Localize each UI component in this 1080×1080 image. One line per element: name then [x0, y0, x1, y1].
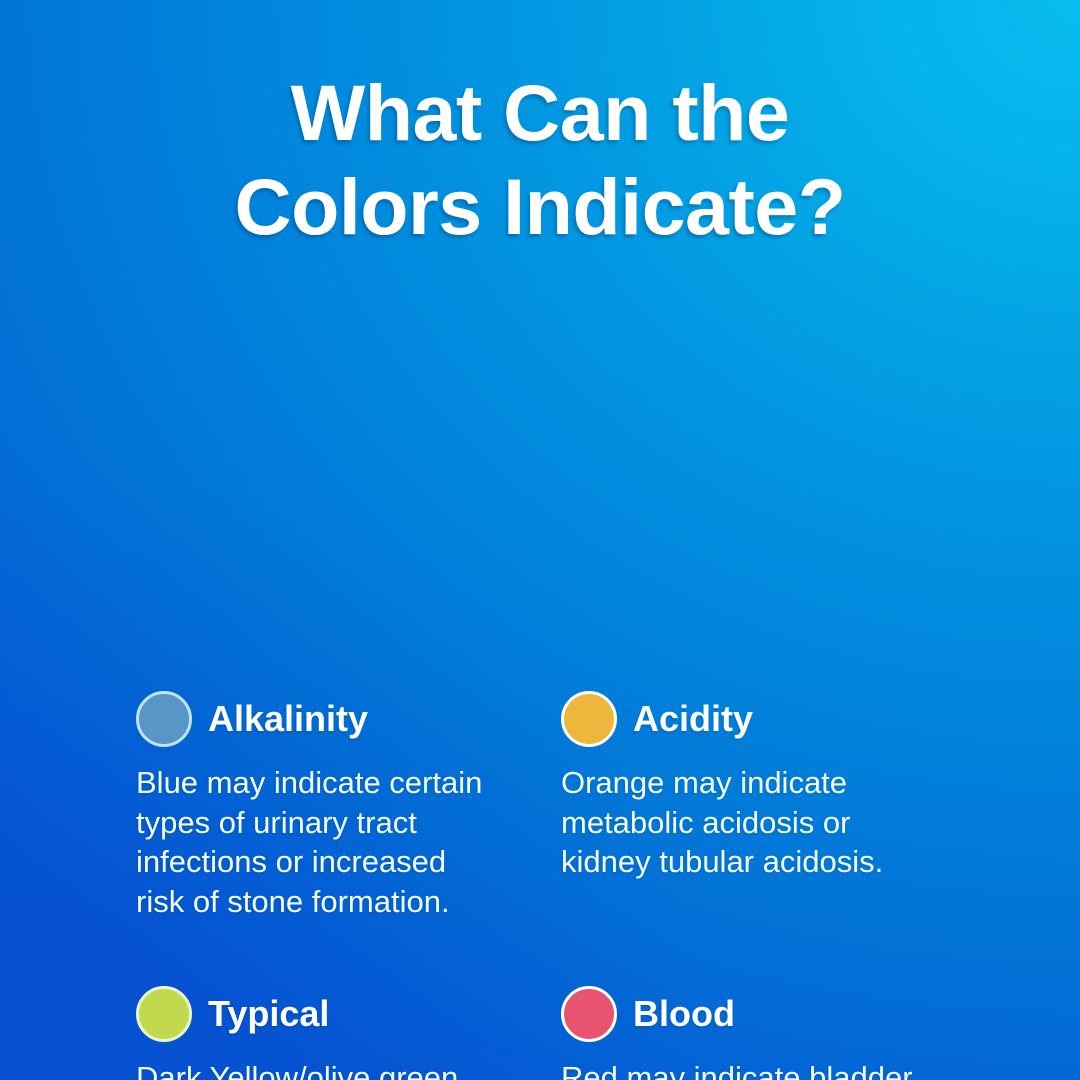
typical-swatch-icon [136, 986, 192, 1042]
legend-item-acidity: Acidity Orange may indicate metabolic ac… [561, 688, 961, 921]
alkalinity-swatch-icon [136, 691, 192, 747]
legend-item-header: Blood [561, 983, 961, 1045]
page-title-line-1: What Can the [0, 66, 1080, 160]
legend-item-blood: Blood Red may indicate bladder crystals,… [561, 983, 961, 1080]
legend-item-description: Red may indicate bladder crystals, FLUTD… [561, 1058, 961, 1080]
legend-item-description: Orange may indicate metabolic acidosis o… [561, 763, 961, 882]
grid-row-spacer [136, 921, 561, 983]
legend-item-typical: Typical Dark Yellow/olive green coloring… [136, 983, 536, 1080]
legend-item-label: Acidity [633, 699, 753, 739]
legend-item-header: Typical [136, 983, 536, 1045]
legend-item-description: Blue may indicate certain types of urina… [136, 763, 536, 921]
blood-swatch-icon [561, 986, 617, 1042]
legend-item-label: Alkalinity [208, 699, 368, 739]
acidity-swatch-icon [561, 691, 617, 747]
infographic-poster: What Can the Colors Indicate? Alkalinity… [0, 0, 1080, 1080]
legend-item-label: Blood [633, 994, 735, 1034]
legend-item-header: Acidity [561, 688, 961, 750]
legend-item-label: Typical [208, 994, 329, 1034]
legend-item-description: Dark Yellow/olive green coloring indicat… [136, 1058, 536, 1080]
grid-row-spacer [561, 921, 986, 983]
page-title: What Can the Colors Indicate? [0, 0, 1080, 254]
legend-item-alkalinity: Alkalinity Blue may indicate certain typ… [136, 688, 536, 921]
legend-item-header: Alkalinity [136, 688, 536, 750]
color-legend-grid: Alkalinity Blue may indicate certain typ… [136, 688, 1016, 1080]
page-title-line-2: Colors Indicate? [0, 160, 1080, 254]
